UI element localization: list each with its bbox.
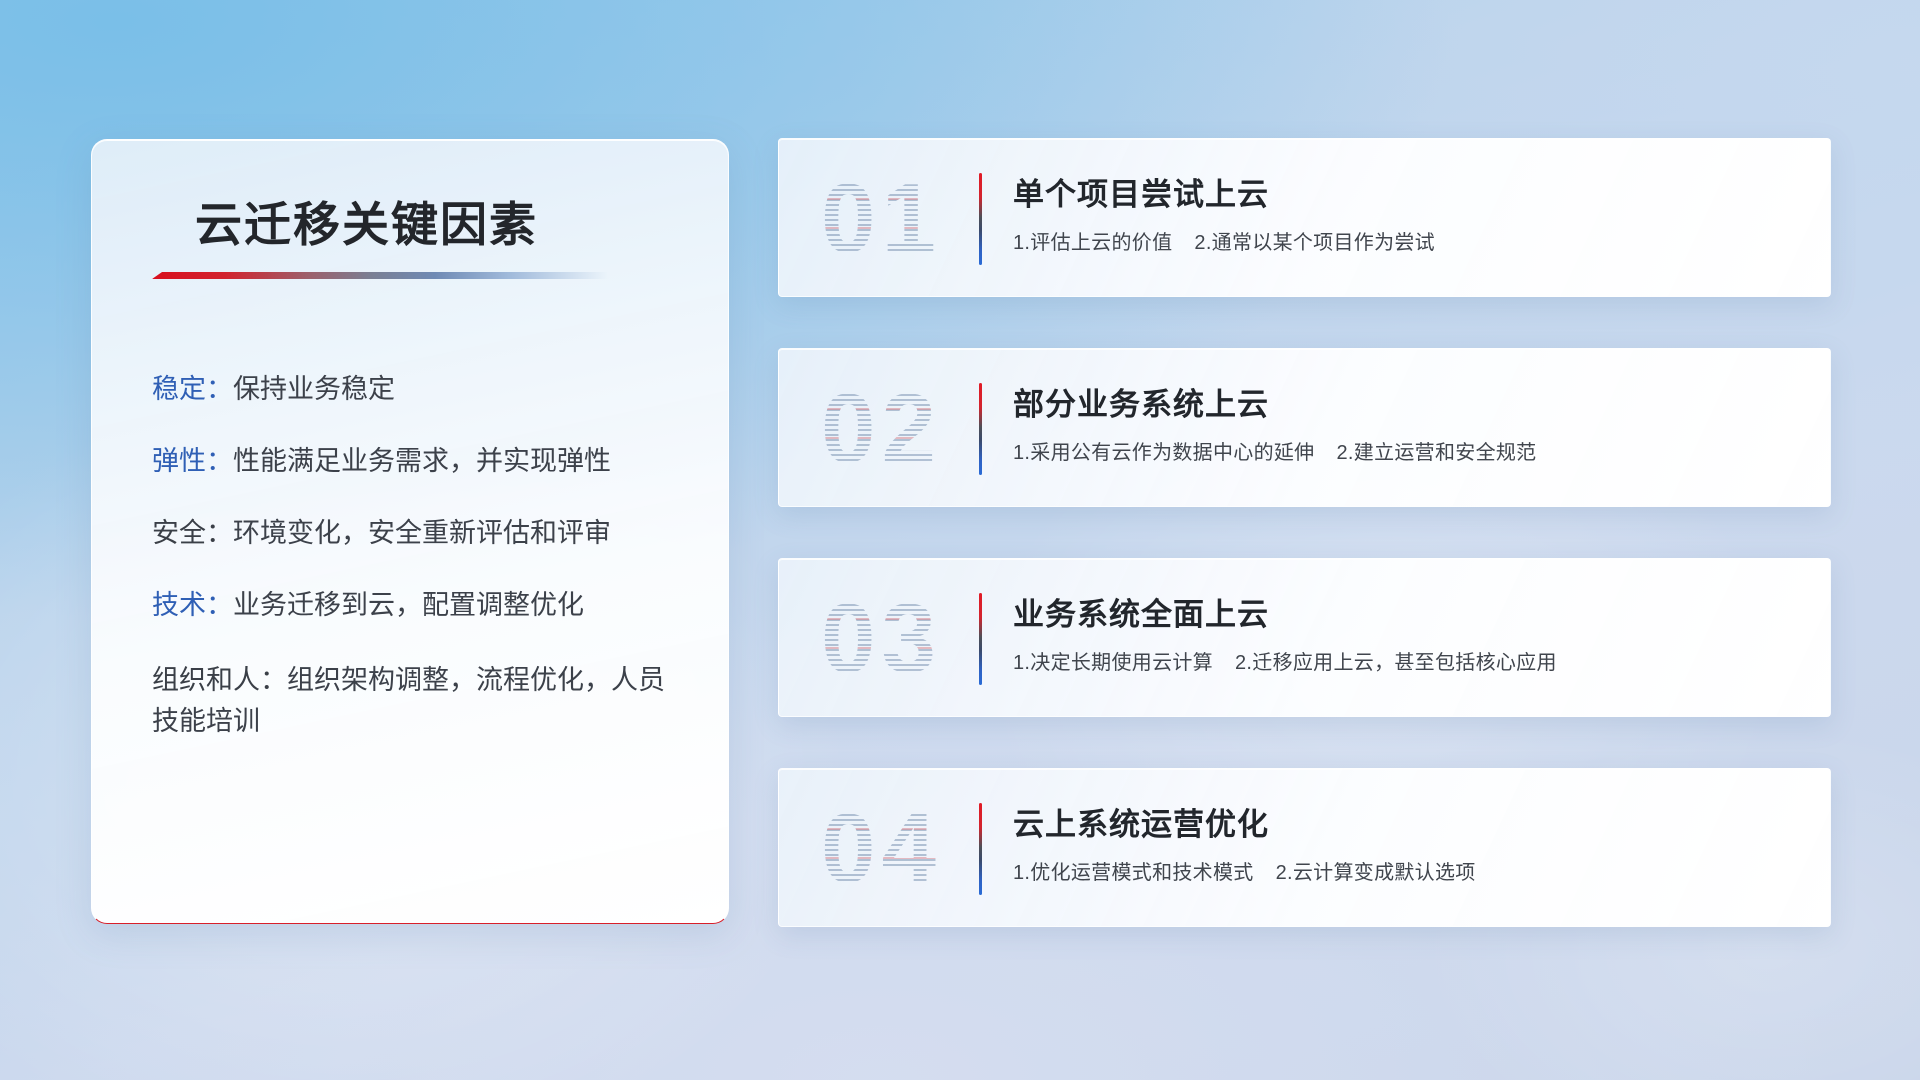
stage-accent-divider <box>979 173 982 265</box>
factor-label: 弹性： <box>152 446 233 476</box>
list-item: 稳定：保持业务稳定 <box>152 372 688 406</box>
title-underline-gradient <box>152 272 608 279</box>
factor-label: 技术： <box>152 590 233 620</box>
stage-point-1: 1.决定长期使用云计算 <box>1013 652 1213 674</box>
page-title: 云迁移关键因素 <box>195 186 538 255</box>
stage-title: 云上系统运营优化 <box>1013 799 1806 844</box>
stage-accent-divider <box>979 383 982 475</box>
factor-text: 性能满足业务需求，并实现弹性 <box>233 446 611 476</box>
stage-point-2: 2.通常以某个项目作为尝试 <box>1194 232 1435 254</box>
stage-point-2: 2.迁移应用上云，甚至包括核心应用 <box>1235 652 1557 674</box>
list-item: 安全：环境变化，安全重新评估和评审 <box>152 516 688 550</box>
stage-point-1: 1.优化运营模式和技术模式 <box>1013 862 1254 884</box>
list-item: 组织和人：组织架构调整，流程优化，人员技能培训 <box>152 660 688 742</box>
factor-label: 安全： <box>152 518 233 548</box>
stage-card-02[interactable]: 02 部分业务系统上云 1.采用公有云作为数据中心的延伸2.建立运营和安全规范 <box>778 348 1831 507</box>
factor-text: 保持业务稳定 <box>233 374 395 404</box>
stage-accent-divider <box>979 593 982 685</box>
stage-content: 单个项目尝试上云 1.评估上云的价值2.通常以某个项目作为尝试 <box>1013 169 1806 255</box>
stage-accent-divider <box>979 803 982 895</box>
key-factors-list: 稳定：保持业务稳定 弹性：性能满足业务需求，并实现弹性 安全：环境变化，安全重新… <box>152 372 688 780</box>
stage-content: 云上系统运营优化 1.优化运营模式和技术模式2.云计算变成默认选项 <box>1013 799 1806 885</box>
stage-card-04[interactable]: 04 云上系统运营优化 1.优化运营模式和技术模式2.云计算变成默认选项 <box>778 768 1831 927</box>
factor-label: 组织和人： <box>152 665 287 695</box>
key-factors-panel: 云迁移关键因素 稳定：保持业务稳定 弹性：性能满足业务需求，并实现弹性 安全：环… <box>91 139 729 924</box>
factor-text: 环境变化，安全重新评估和评审 <box>233 518 611 548</box>
stage-description: 1.评估上云的价值2.通常以某个项目作为尝试 <box>1013 226 1806 255</box>
list-item: 弹性：性能满足业务需求，并实现弹性 <box>152 444 688 478</box>
stage-description: 1.采用公有云作为数据中心的延伸2.建立运营和安全规范 <box>1013 436 1806 465</box>
stage-number-watermark: 03 <box>821 589 942 687</box>
stage-point-1: 1.采用公有云作为数据中心的延伸 <box>1013 442 1314 464</box>
stage-point-2: 2.建立运营和安全规范 <box>1336 442 1536 464</box>
stage-card-03[interactable]: 03 业务系统全面上云 1.决定长期使用云计算2.迁移应用上云，甚至包括核心应用 <box>778 558 1831 717</box>
stage-point-2: 2.云计算变成默认选项 <box>1276 862 1476 884</box>
list-item: 技术：业务迁移到云，配置调整优化 <box>152 588 688 622</box>
slide-canvas: 云迁移关键因素 稳定：保持业务稳定 弹性：性能满足业务需求，并实现弹性 安全：环… <box>0 0 1920 1080</box>
stage-title: 部分业务系统上云 <box>1013 379 1806 424</box>
stage-number-watermark: 04 <box>821 799 942 897</box>
factor-label: 稳定： <box>152 374 233 404</box>
factor-text: 业务迁移到云，配置调整优化 <box>233 590 584 620</box>
stage-description: 1.决定长期使用云计算2.迁移应用上云，甚至包括核心应用 <box>1013 646 1806 675</box>
stage-number-watermark: 01 <box>821 169 942 267</box>
stage-card-01[interactable]: 01 单个项目尝试上云 1.评估上云的价值2.通常以某个项目作为尝试 <box>778 138 1831 297</box>
stage-content: 业务系统全面上云 1.决定长期使用云计算2.迁移应用上云，甚至包括核心应用 <box>1013 589 1806 675</box>
migration-stage-list: 01 单个项目尝试上云 1.评估上云的价值2.通常以某个项目作为尝试 02 部分… <box>778 138 1831 927</box>
stage-content: 部分业务系统上云 1.采用公有云作为数据中心的延伸2.建立运营和安全规范 <box>1013 379 1806 465</box>
stage-point-1: 1.评估上云的价值 <box>1013 232 1172 254</box>
stage-title: 业务系统全面上云 <box>1013 589 1806 634</box>
stage-description: 1.优化运营模式和技术模式2.云计算变成默认选项 <box>1013 856 1806 885</box>
stage-number-watermark: 02 <box>821 379 942 477</box>
stage-title: 单个项目尝试上云 <box>1013 169 1806 214</box>
